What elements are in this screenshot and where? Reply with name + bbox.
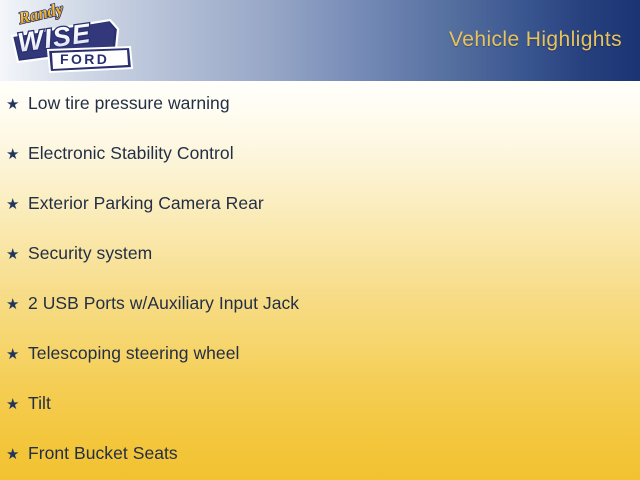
highlights-panel: ★Low tire pressure warning★Electronic St… — [0, 81, 640, 480]
list-item: ★Tilt — [0, 395, 640, 445]
list-item: ★Security system — [0, 245, 640, 295]
list-item: ★Front Bucket Seats — [0, 445, 640, 480]
list-item: ★Exterior Parking Camera Rear — [0, 195, 640, 245]
logo-ford-text: FORD — [60, 51, 109, 67]
list-item: ★Low tire pressure warning — [0, 95, 640, 145]
highlight-label: Electronic Stability Control — [28, 145, 640, 163]
dealer-logo[interactable]: WISE FORD Randy — [6, 2, 138, 78]
highlight-label: Low tire pressure warning — [28, 95, 640, 113]
star-icon: ★ — [6, 247, 28, 262]
star-icon: ★ — [6, 347, 28, 362]
star-icon: ★ — [6, 97, 28, 112]
list-item: ★Electronic Stability Control — [0, 145, 640, 195]
list-item: ★Telescoping steering wheel — [0, 345, 640, 395]
star-icon: ★ — [6, 447, 28, 462]
highlights-list: ★Low tire pressure warning★Electronic St… — [0, 81, 640, 480]
highlight-label: Telescoping steering wheel — [28, 345, 640, 363]
list-item: ★2 USB Ports w/Auxiliary Input Jack — [0, 295, 640, 345]
page-title: Vehicle Highlights — [449, 28, 622, 52]
highlight-label: Tilt — [28, 395, 640, 413]
star-icon: ★ — [6, 197, 28, 212]
highlight-label: Front Bucket Seats — [28, 445, 640, 463]
star-icon: ★ — [6, 297, 28, 312]
highlight-label: Security system — [28, 245, 640, 263]
star-icon: ★ — [6, 147, 28, 162]
star-icon: ★ — [6, 397, 28, 412]
highlight-label: 2 USB Ports w/Auxiliary Input Jack — [28, 295, 640, 313]
vehicle-highlights-page: WISE FORD Randy Vehicle Highlights ★Low … — [0, 0, 640, 480]
page-header: WISE FORD Randy Vehicle Highlights — [0, 0, 640, 81]
highlight-label: Exterior Parking Camera Rear — [28, 195, 640, 213]
